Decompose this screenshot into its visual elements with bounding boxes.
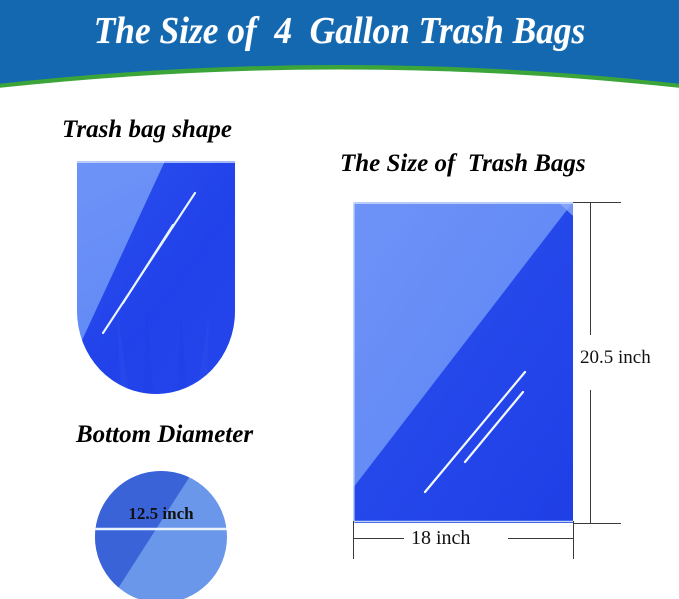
infographic-canvas: The Size of 4 Gallon Trash Bags Trash ba… (0, 0, 679, 599)
width-dim-line-left (354, 538, 404, 539)
width-dim-tick-right (573, 521, 574, 559)
bag-height-value: 20.5 inch (578, 346, 653, 370)
width-dim-tick-left (353, 521, 354, 559)
trash-bag-size-caption: The Size of Trash Bags (340, 150, 586, 178)
height-dim-line-upper (590, 203, 591, 335)
trash-bag-shape-caption: Trash bag shape (62, 116, 232, 144)
bag-rect-svg (353, 202, 573, 523)
bottom-circle-svg (94, 470, 228, 599)
circle-body (94, 470, 228, 599)
height-dim-line-lower (590, 390, 591, 523)
bag-width-value: 18 inch (404, 527, 477, 550)
trash-bag-rectangle-icon (353, 202, 573, 523)
bag-bottom-circle-icon (94, 470, 228, 599)
trash-bag-shape-icon (77, 161, 235, 394)
header-banner: The Size of 4 Gallon Trash Bags (0, 0, 679, 92)
width-dim-line-right (508, 538, 573, 539)
bottom-diameter-value: 12.5 inch (94, 504, 228, 524)
bottom-diameter-caption: Bottom Diameter (76, 421, 253, 449)
bag-body (77, 161, 235, 394)
height-dim-tick-top (573, 202, 621, 203)
height-dim-tick-bottom (573, 523, 621, 524)
bag-shape-svg (77, 161, 235, 394)
page-title: The Size of 4 Gallon Trash Bags (24, 8, 655, 54)
